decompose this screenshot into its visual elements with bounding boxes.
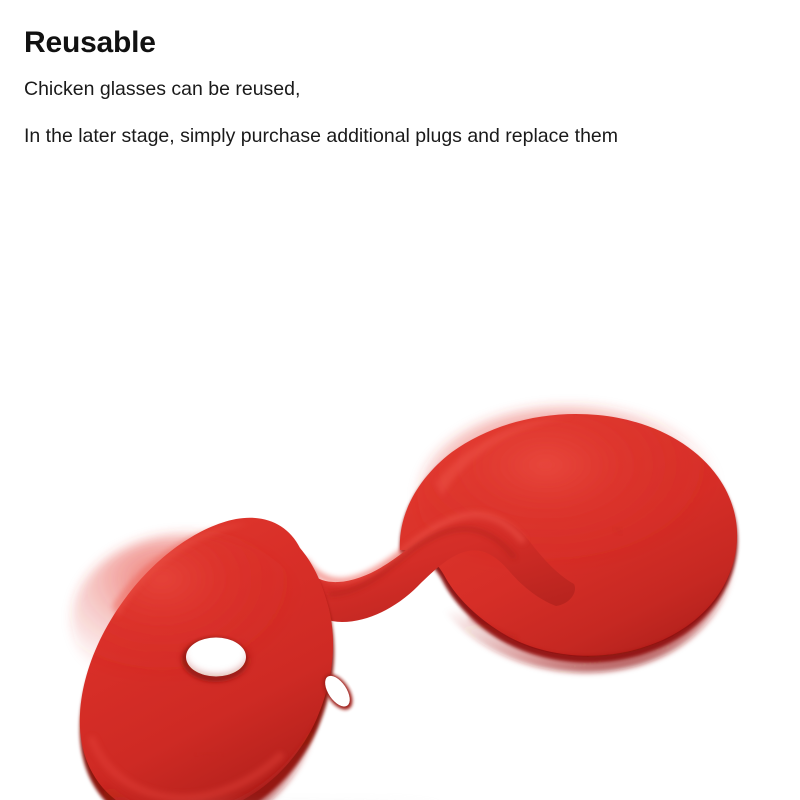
right-shield-highlight <box>418 406 722 590</box>
large-pin-hole-rim-shade <box>180 632 252 682</box>
description-line-1: Chicken glasses can be reused, <box>24 76 764 102</box>
large-pin-hole <box>180 632 252 682</box>
left-shield-highlight <box>72 534 308 706</box>
product-infographic-page: Reusable Chicken glasses can be reused, … <box>0 0 800 800</box>
left-eye-shield <box>72 518 358 800</box>
product-image <box>0 180 800 800</box>
text-block: Reusable Chicken glasses can be reused, … <box>24 24 764 149</box>
description-line-2: In the later stage, simply purchase addi… <box>24 123 764 149</box>
page-title: Reusable <box>24 24 764 62</box>
chicken-glasses-illustration <box>0 180 800 800</box>
